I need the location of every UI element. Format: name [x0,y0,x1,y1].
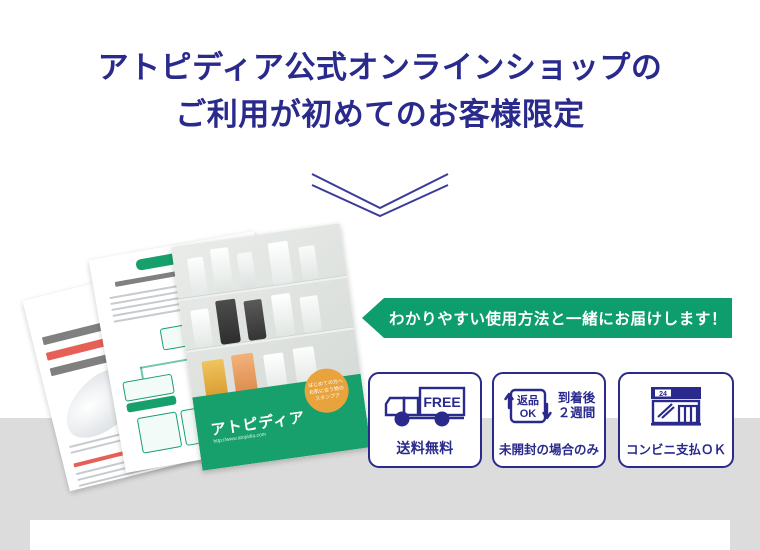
product-leaflet-collage: アトピディア http://www.atopidia.com はじめての方へ お… [40,218,360,480]
delivery-truck-icon: FREE [370,383,480,429]
truck-free-text: FREE [423,394,460,410]
badge-free-shipping: FREE 送料無料 [368,372,482,468]
catalog-badge-text: はじめての方へ お肌に合う物の スタンプア [302,366,350,404]
promo-banner: アトピディア公式オンラインショップの ご利用が初めてのお客様限定 [0,0,760,550]
return-text-ok: OK [519,408,536,420]
badge-label-free-shipping: 送料無料 [370,438,480,458]
badge-return-ok: 返品 OK 到着後 ２週間 未開封の場合のみ [492,372,606,468]
double-chevron-down-icon [310,172,450,218]
ribbon-arrow-notch [362,298,384,338]
convenience-store-icon: 24 [620,383,732,429]
leaflet-catalog: アトピディア http://www.atopidia.com はじめての方へ お… [171,223,371,470]
return-arrows-icon: 返品 OK [503,386,553,426]
ribbon-label: わかりやすい使用方法と一緒にお届けします！ [384,298,732,338]
badge-label-konbini: コンビニ支払ＯＫ [620,439,732,458]
return-badge-icon-area: 返品 OK 到着後 ２週間 [494,383,604,429]
page-title: アトピディア公式オンラインショップの ご利用が初めてのお客様限定 [0,44,760,138]
badge-konbini-payment: 24 コンビニ支払ＯＫ [618,372,734,468]
white-content-panel [30,520,730,550]
feature-badge-group: FREE 送料無料 返品 OK [368,372,734,468]
return-period-text: 到着後 ２週間 [558,391,596,421]
return-text-henpin: 返品 [517,393,539,407]
delivery-message-ribbon: わかりやすい使用方法と一緒にお届けします！ [362,298,732,338]
badge-label-return-ok: 未開封の場合のみ [494,439,604,458]
store-24-text: 24 [659,391,667,398]
